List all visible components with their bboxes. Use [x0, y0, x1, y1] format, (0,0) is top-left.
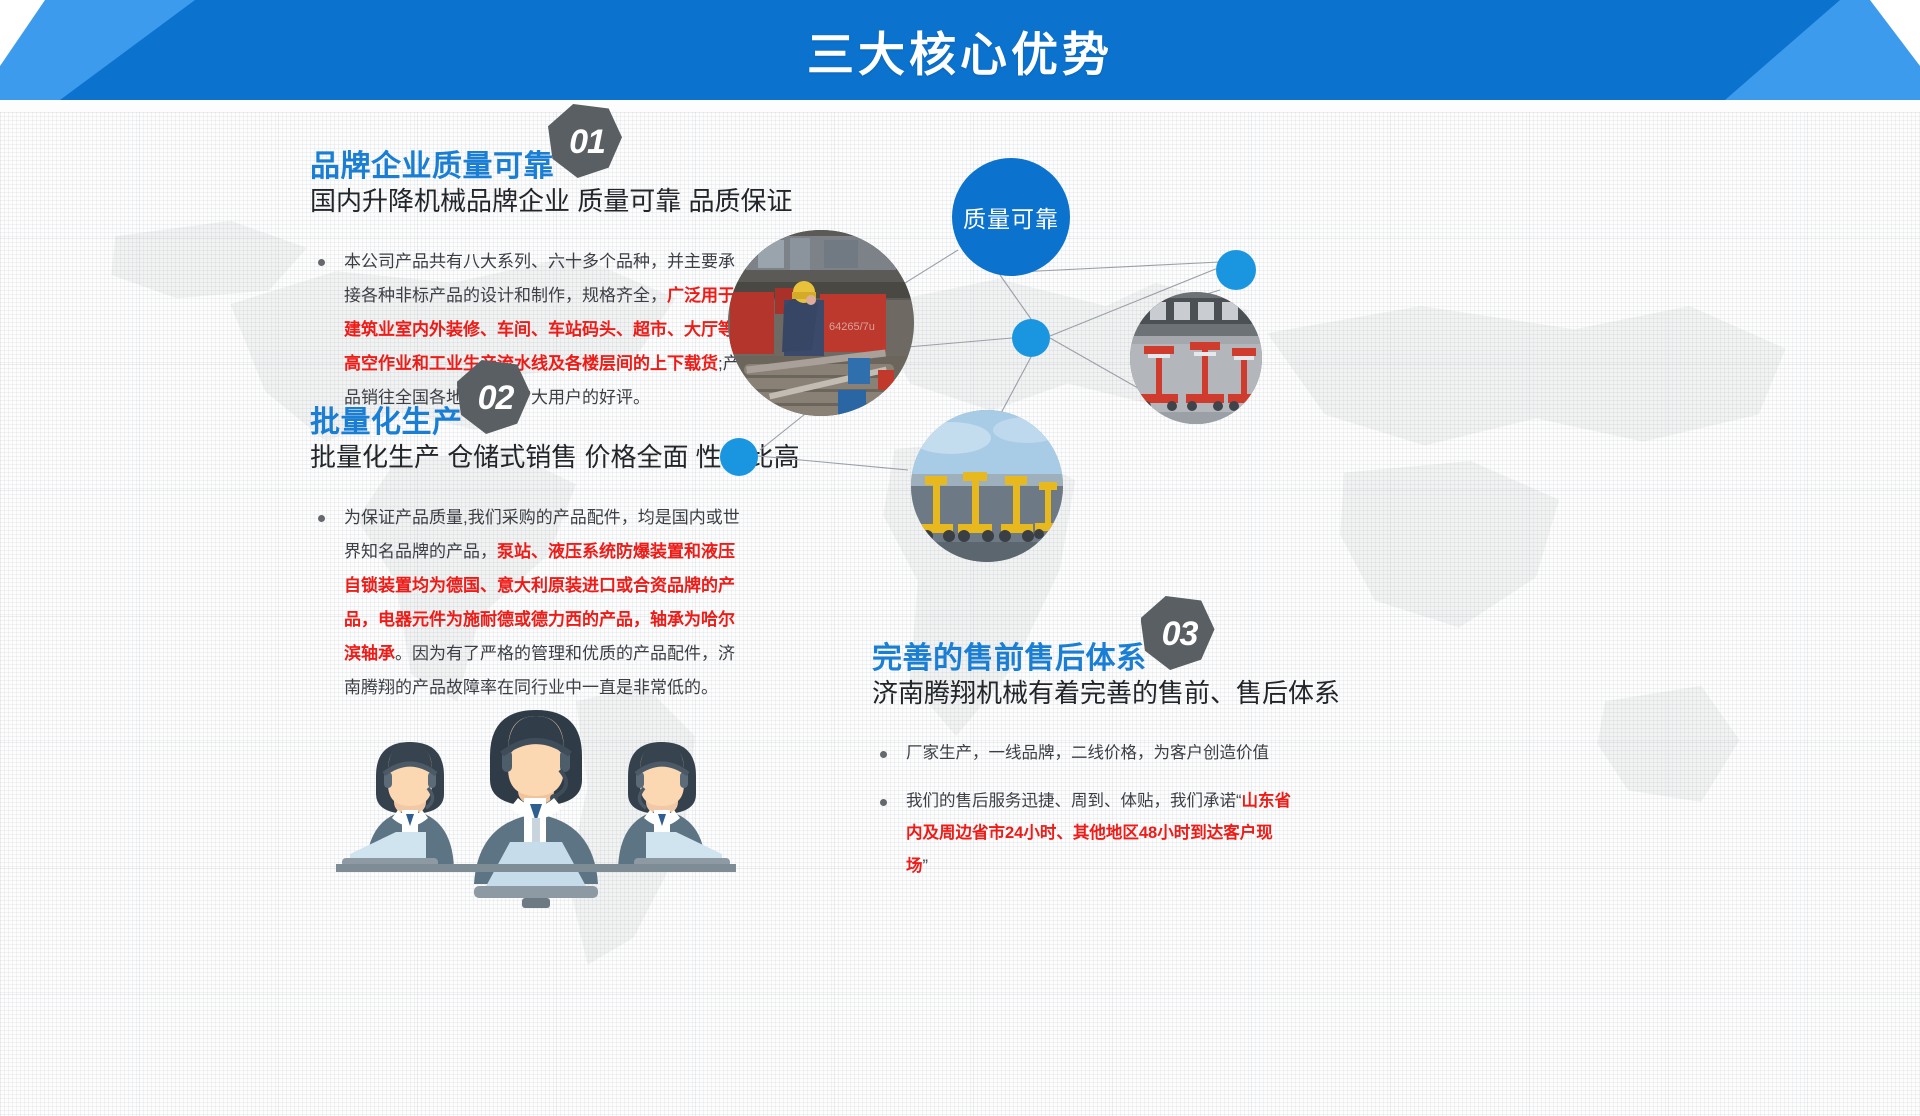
network-diagram: 64265/7u	[700, 130, 1320, 550]
feature-02-number: 02	[478, 379, 514, 418]
body-text: ”	[923, 857, 929, 875]
node-dot-right	[1216, 250, 1256, 290]
page-header-banner: 三大核心优势	[0, 0, 1920, 100]
feature-02-header: 批量化生产 02	[310, 390, 740, 438]
node-dot-left	[720, 438, 758, 476]
svg-text:64265/7u: 64265/7u	[829, 321, 875, 333]
feature-02-number-badge: 02	[457, 360, 531, 434]
laptop-left	[342, 832, 438, 867]
feature-03-title: 完善的售前售后体系	[872, 644, 1147, 674]
desk-stand	[522, 898, 550, 908]
list-item: 我们的售后服务迅捷、周到、体贴，我们承诺“山东省内及周边省市24小时、其他地区4…	[872, 785, 1292, 882]
node-dot-center	[1012, 319, 1050, 357]
feature-03-subtitle: 济南腾翔机械有着完善的售前、售后体系	[872, 676, 1292, 711]
desk-surface	[336, 864, 736, 872]
photo-lift-showroom-image	[1130, 292, 1262, 424]
photo-factory-cutting: 64265/7u	[728, 230, 914, 416]
feature-02-title: 批量化生产	[310, 408, 463, 438]
list-item: 厂家生产，一线品牌，二线价格，为客户创造价值	[872, 737, 1292, 769]
node-main-label: 质量可靠	[963, 200, 1059, 234]
page-root: 三大核心优势 品牌企业质量可靠 01 国内升降机械品牌企业 质量可靠 品质保证 …	[0, 0, 1920, 1116]
feature-01-number-badge: 01	[548, 104, 622, 178]
node-main-quality: 质量可靠	[952, 158, 1070, 276]
feature-03-number-badge: 03	[1141, 596, 1215, 670]
laptop-right	[634, 832, 730, 867]
feature-01-header: 品牌企业质量可靠 01	[310, 134, 740, 182]
photo-lift-showroom	[1130, 292, 1262, 424]
body-text: 我们的售后服务迅捷、周到、体贴，我们承诺“	[906, 792, 1242, 810]
feature-03-header: 完善的售前售后体系 03	[872, 626, 1292, 674]
feature-02-subtitle: 批量化生产 仓储式销售 价格全面 性价比高	[310, 440, 740, 475]
photo-factory-cutting-image: 64265/7u	[728, 230, 914, 416]
page-title: 三大核心优势	[0, 0, 1920, 100]
body-text: 厂家生产，一线品牌，二线价格，为客户创造价值	[906, 744, 1269, 762]
feature-03-number: 03	[1162, 615, 1198, 654]
feature-01-number: 01	[569, 123, 605, 162]
customer-service-image	[336, 658, 736, 908]
feature-01-subtitle: 国内升降机械品牌企业 质量可靠 品质保证	[310, 184, 740, 219]
feature-01-title: 品牌企业质量可靠	[310, 152, 554, 182]
feature-03-bullet-list: 厂家生产，一线品牌，二线价格，为客户创造价值 我们的售后服务迅捷、周到、体贴，我…	[872, 737, 1292, 882]
photo-lift-platform-outdoor	[911, 410, 1063, 562]
feature-block-03: 完善的售前售后体系 03 济南腾翔机械有着完善的售前、售后体系 厂家生产，一线品…	[872, 626, 1292, 898]
customer-service-illustration	[336, 658, 736, 908]
photo-lift-platform-image	[911, 410, 1063, 562]
